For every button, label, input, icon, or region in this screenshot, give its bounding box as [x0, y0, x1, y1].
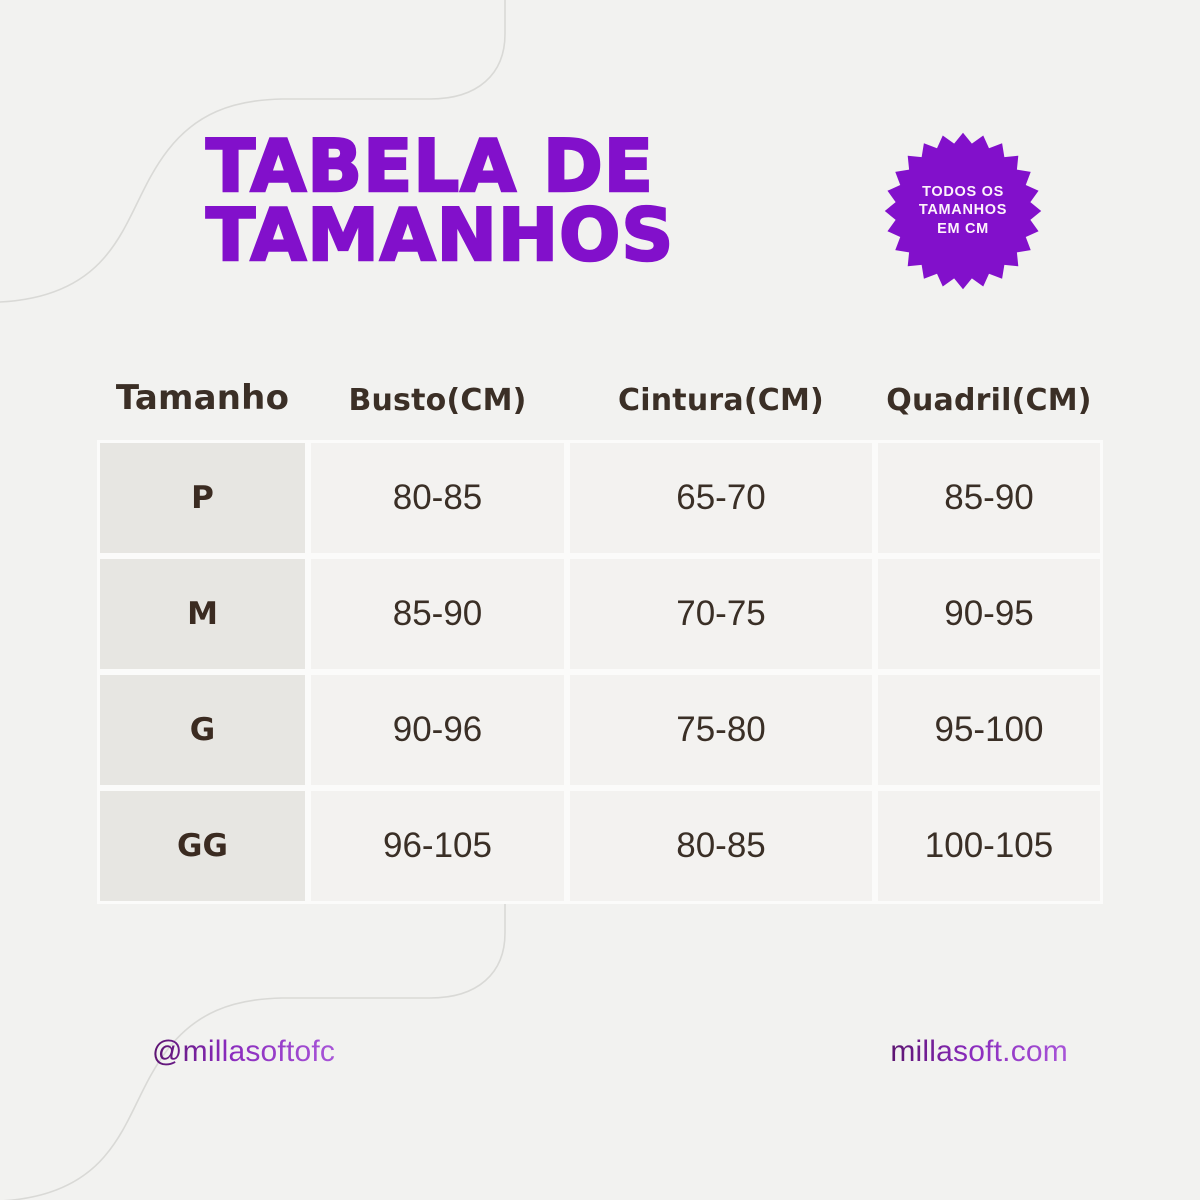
cell-size: P	[97, 440, 308, 556]
cell-quadril: 100-105	[875, 788, 1103, 904]
cell-cintura: 65-70	[567, 440, 875, 556]
footer: @millasoftofc millasoft.com	[0, 1035, 1200, 1095]
page-title: TABELA DE TAMANHOS	[206, 132, 846, 270]
table-row: G 90-96 75-80 95-100	[97, 672, 1103, 788]
cell-cintura: 75-80	[567, 672, 875, 788]
table-header-row: Tamanho Busto(CM) Cintura(CM) Quadril(CM…	[97, 378, 1103, 440]
column-header-tamanho: Tamanho	[97, 378, 308, 440]
instagram-handle[interactable]: @millasoftofc	[152, 1035, 335, 1069]
units-badge-line-2: TAMANHOS	[919, 203, 1007, 218]
cell-quadril: 85-90	[875, 440, 1103, 556]
cell-cintura: 80-85	[567, 788, 875, 904]
cell-busto: 80-85	[308, 440, 567, 556]
website-url[interactable]: millasoft.com	[890, 1035, 1068, 1069]
table-body: P 80-85 65-70 85-90 M 85-90 70-75 90-95 …	[97, 440, 1103, 904]
units-badge: TODOS OS TAMANHOS EM CM	[884, 132, 1042, 290]
cell-size: G	[97, 672, 308, 788]
units-badge-line-1: TODOS OS	[922, 185, 1004, 200]
page-title-line-1: TABELA DE	[206, 132, 846, 201]
column-header-busto: Busto(CM)	[308, 378, 567, 440]
cell-quadril: 90-95	[875, 556, 1103, 672]
cell-size: GG	[97, 788, 308, 904]
units-badge-text: TODOS OS TAMANHOS EM CM	[884, 132, 1042, 290]
column-header-cintura: Cintura(CM)	[567, 378, 875, 440]
cell-busto: 90-96	[308, 672, 567, 788]
table-row: GG 96-105 80-85 100-105	[97, 788, 1103, 904]
table-row: M 85-90 70-75 90-95	[97, 556, 1103, 672]
cell-cintura: 70-75	[567, 556, 875, 672]
cell-quadril: 95-100	[875, 672, 1103, 788]
table-row: P 80-85 65-70 85-90	[97, 440, 1103, 556]
column-header-quadril: Quadril(CM)	[875, 378, 1103, 440]
cell-busto: 85-90	[308, 556, 567, 672]
header: TABELA DE TAMANHOS TODOS OS TAMANHOS EM …	[0, 0, 1200, 330]
size-chart-table: Tamanho Busto(CM) Cintura(CM) Quadril(CM…	[97, 378, 1103, 904]
size-chart-container: Tamanho Busto(CM) Cintura(CM) Quadril(CM…	[97, 378, 1103, 904]
cell-size: M	[97, 556, 308, 672]
cell-busto: 96-105	[308, 788, 567, 904]
units-badge-line-3: EM CM	[937, 222, 989, 237]
page-title-line-2: TAMANHOS	[206, 201, 846, 270]
